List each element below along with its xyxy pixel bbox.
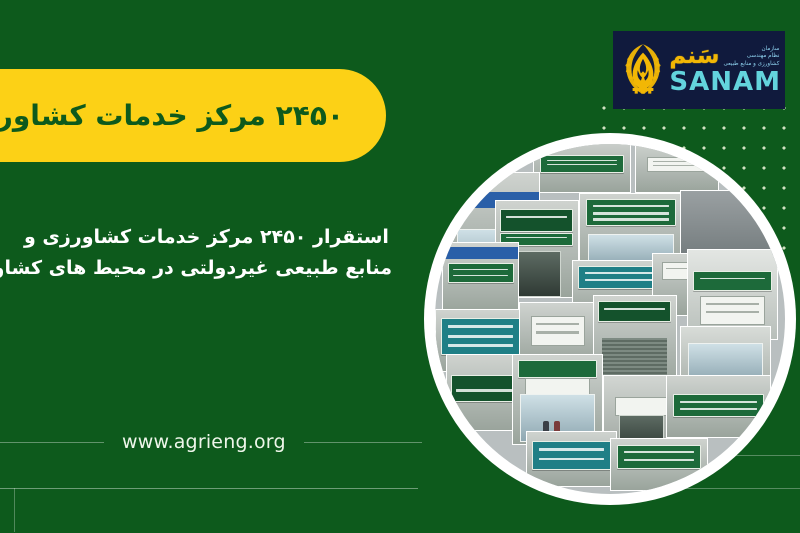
rule-left (0, 442, 104, 443)
logo-brand-farsi: سَنم (669, 45, 719, 68)
collage-tile (442, 242, 519, 312)
logo-org-line-2: نظام مهندسی (747, 53, 780, 59)
logo-word-row: سَنم سازمان نظام مهندسی کشاورزی و منابع … (669, 45, 781, 68)
bottom-divider (0, 488, 418, 489)
banner-title: ۲۴۵۰ مرکز خدمات کشاورزی غیردولتی (0, 99, 350, 133)
logo-organization-lines: سازمان نظام مهندسی کشاورزی و منابع طبیعی (723, 46, 779, 67)
collage-tile (526, 431, 617, 487)
vertical-divider (14, 488, 15, 532)
website-url[interactable]: www.agrieng.org (104, 431, 304, 453)
collage-tile (666, 375, 771, 438)
headline-banner: ۲۴۵۰ مرکز خدمات کشاورزی غیردولتی (0, 69, 386, 162)
collage-tile (533, 144, 631, 193)
collage-tile (635, 144, 719, 193)
collage-tile (610, 438, 708, 491)
collage-tile (446, 354, 523, 431)
collage-tile (593, 295, 677, 386)
rule-right (304, 442, 422, 443)
logo-text-group: سَنم سازمان نظام مهندسی کشاورزی و منابع … (669, 34, 781, 106)
headline-block: استقرار ۲۴۵۰ مرکز خدمات کشاورزی و منابع … (0, 222, 392, 284)
collage-photo-area (435, 144, 785, 494)
photo-collage-circle (424, 133, 796, 505)
wheat-laurel-emblem-icon (617, 39, 669, 101)
logo-brand-english: SANAM (669, 69, 781, 95)
sanam-logo-box: سَنم سازمان نظام مهندسی کشاورزی و منابع … (613, 31, 785, 109)
collage-tiles (435, 144, 785, 494)
headline-line-1: استقرار ۲۴۵۰ مرکز خدمات کشاورزی و (24, 222, 392, 253)
logo-org-line-1: سازمان (762, 46, 780, 52)
headline-line-2: منابع طبیعی غیردولتی در محیط های کشاورزی (24, 253, 392, 284)
website-row: www.agrieng.org (0, 424, 418, 460)
poster-canvas: سَنم سازمان نظام مهندسی کشاورزی و منابع … (0, 0, 800, 533)
